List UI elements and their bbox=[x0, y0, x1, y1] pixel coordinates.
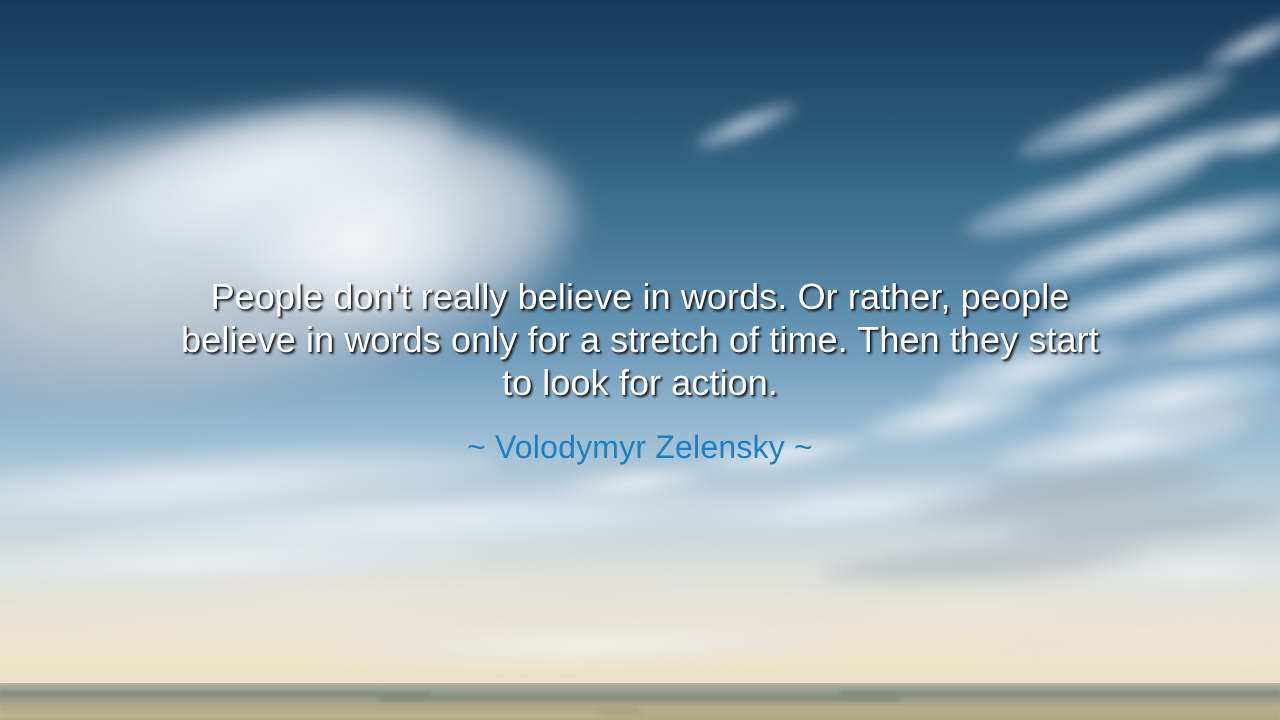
quote-text: People don't really believe in words. Or… bbox=[110, 275, 1170, 404]
quote-card: People don't really believe in words. Or… bbox=[0, 0, 1280, 720]
quote-attribution: ~ Volodymyr Zelensky ~ bbox=[467, 428, 813, 466]
text-overlay: People don't really believe in words. Or… bbox=[0, 0, 1280, 720]
